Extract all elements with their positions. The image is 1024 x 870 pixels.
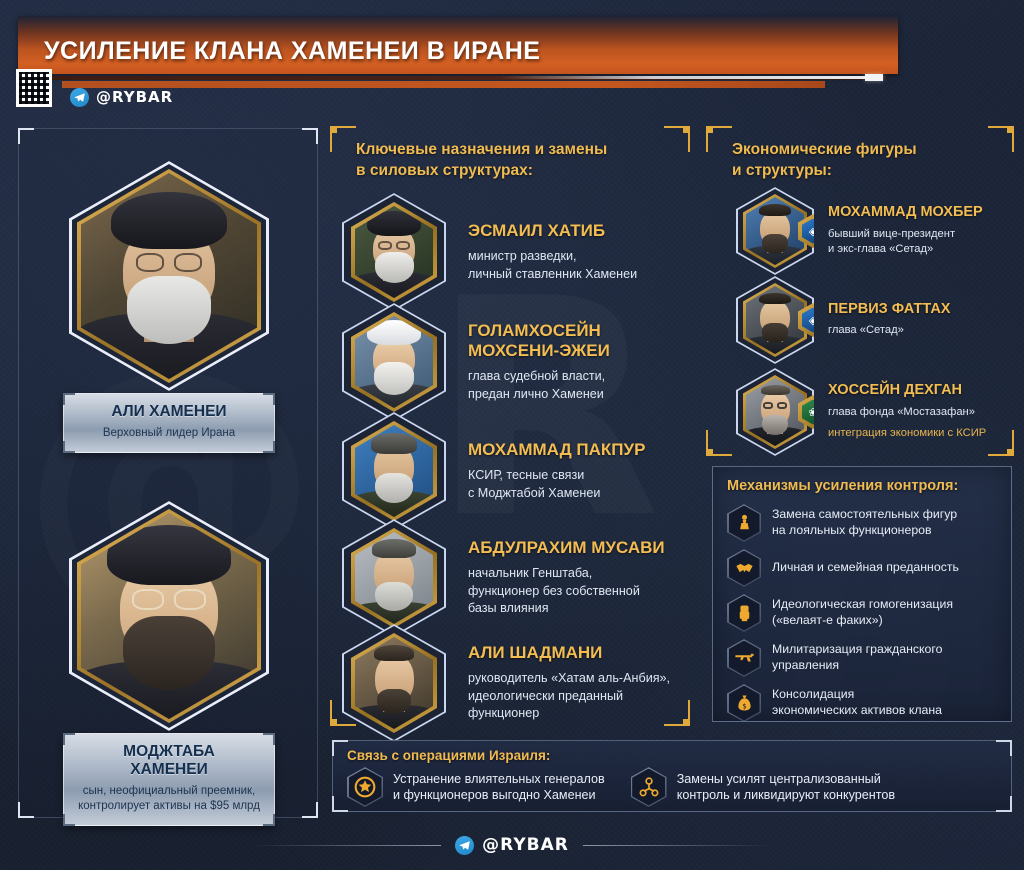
abdolrahim-mousavi-photo: [342, 519, 446, 637]
mojtaba-khamenei-photo: [69, 501, 269, 731]
security-section-title: Ключевые назначения и замены в силовых с…: [356, 140, 607, 182]
mohammad-mokhber-photo: ◈: [736, 187, 814, 275]
header-brand[interactable]: @RYBAR: [62, 84, 181, 110]
header-underline-silver: [500, 76, 880, 79]
corner-bracket: [332, 740, 348, 756]
mechanism-text: Идеологическая гомогенизация («велаят-е …: [772, 597, 953, 628]
mojtaba-khamenei-role: сын, неофициальный преемник, контролируе…: [74, 784, 264, 814]
mechanism-item: Замена самостоятельных фигур на лояльных…: [727, 504, 999, 542]
money-bag-icon: $: [727, 684, 761, 722]
person-row: АЛИ ШАДМАНИ руководитель «Хатам аль-Анби…: [342, 624, 670, 742]
person-row: ❀ ХОССЕЙН ДЕХГАН глава фонда «Мостазафан…: [736, 368, 986, 456]
mechanism-text: Милитаризация гражданского управления: [772, 642, 942, 673]
footer: @RYBAR: [0, 828, 1024, 862]
person-description: КСИР, тесные связи с Моджтабой Хаменеи: [468, 467, 645, 502]
corner-bracket: [706, 126, 732, 152]
corner-bracket: [664, 126, 690, 152]
ali-shadmani-photo: [342, 624, 446, 742]
raised-fist-icon: [727, 594, 761, 632]
person-description: глава фонда «Мостазафан»: [828, 405, 986, 420]
corner-bracket: [706, 430, 732, 456]
person-description: начальник Генштаба, функционер без собст…: [468, 565, 665, 617]
person-name: ГОЛАМХОСЕЙН МОХСЕНИ-ЭЖЕИ: [468, 321, 610, 361]
corner-bracket: [302, 128, 318, 144]
parviz-fattah-photo: ◈: [736, 276, 814, 364]
person-row: МОХАММАД ПАКПУР КСИР, тесные связи с Мод…: [342, 412, 645, 530]
mechanism-item: Милитаризация гражданского управления: [727, 639, 999, 677]
person-name: ХОССЕЙН ДЕХГАН: [828, 382, 986, 399]
mojtaba-khamenei-nameplate: МОДЖТАБА ХАМЕНЕИ сын, неофициальный прее…: [63, 733, 275, 826]
handshake-icon: [727, 549, 761, 587]
hossein-dehghan-photo: ❀: [736, 368, 814, 456]
person-name: ПЕРВИЗ ФАТТАХ: [828, 301, 950, 318]
person-name: МОХАММАД МОХБЕР: [828, 204, 983, 221]
corner-bracket: [988, 430, 1014, 456]
person-description: бывший вице-президент и экс-глава «Сетад…: [828, 227, 983, 258]
mechanism-item: Личная и семейная преданность: [727, 549, 999, 587]
corner-bracket: [988, 126, 1014, 152]
person-row: ◈ ПЕРВИЗ ФАТТАХ глава «Сетад»: [736, 276, 950, 364]
israel-operations-box: Связь с операциями Израиля: Устранение в…: [332, 740, 1012, 812]
header-underline-tip: [865, 74, 883, 81]
rifle-icon: [727, 639, 761, 677]
person-row: ◈ МОХАММАД МОХБЕР бывший вице-президент …: [736, 187, 983, 275]
person-name: МОХАММАД ПАКПУР: [468, 440, 645, 460]
corner-bracket: [332, 796, 348, 812]
mechanism-text: Личная и семейная преданность: [772, 560, 959, 576]
mechanism-item: Идеологическая гомогенизация («велаят-е …: [727, 594, 999, 632]
person-name: АБДУЛРАХИМ МУСАВИ: [468, 538, 665, 558]
israel-box-item: Замены усилят централизованный контроль …: [631, 767, 895, 807]
person-row: АБДУЛРАХИМ МУСАВИ начальник Генштаба, фу…: [342, 519, 665, 637]
ali-khamenei-photo: [69, 161, 269, 391]
control-mechanisms-box: Механизмы усиления контроля: Замена само…: [712, 466, 1012, 722]
mechanism-text: Консолидация экономических активов клана: [772, 687, 942, 718]
mechanism-text: Замена самостоятельных фигур на лояльных…: [772, 507, 957, 538]
israel-box-item: Устранение влиятельных генералов и функц…: [347, 767, 605, 807]
person-description: глава «Сетад»: [828, 323, 950, 338]
footer-brand-label: @RYBAR: [482, 835, 569, 855]
person-note: интеграция экономики с КСИР: [828, 426, 986, 441]
person-row: ЭСМАИЛ ХАТИБ министр разведки, личный ст…: [342, 193, 637, 311]
page-title: УСИЛЕНИЕ КЛАНА ХАМЕНЕИ В ИРАНЕ: [18, 37, 540, 74]
telegram-icon: [70, 88, 89, 107]
mojtaba-khamenei-name: МОДЖТАБА ХАМЕНЕИ: [74, 743, 264, 779]
chess-pawn-icon: [727, 504, 761, 542]
economic-section-title: Экономические фигуры и структуры:: [732, 140, 917, 182]
ali-khamenei-nameplate: АЛИ ХАМЕНЕИ Верховный лидер Ирана: [63, 393, 275, 453]
qr-code-icon: [16, 69, 52, 107]
mohammad-pakpour-photo: [342, 412, 446, 530]
gholamhossein-mohseni-ejei-photo: [342, 303, 446, 421]
mechanism-item: $ Консолидация экономических активов кла…: [727, 684, 999, 722]
header-brand-label: @RYBAR: [96, 88, 173, 106]
footer-rule-left: [251, 845, 441, 846]
esmail-khatib-photo: [342, 193, 446, 311]
telegram-icon: [455, 836, 474, 855]
corner-bracket: [302, 802, 318, 818]
mechanisms-title: Механизмы усиления контроля:: [727, 478, 999, 494]
footer-brand[interactable]: @RYBAR: [441, 835, 583, 855]
corner-bracket: [330, 126, 356, 152]
header-banner: УСИЛЕНИЕ КЛАНА ХАМЕНЕИ В ИРАНЕ: [18, 16, 898, 74]
corner-bracket: [18, 802, 34, 818]
network-node-icon: [631, 767, 667, 807]
corner-bracket: [18, 128, 34, 144]
person-description: руководитель «Хатам аль-Анбия», идеологи…: [468, 670, 670, 722]
ali-khamenei-role: Верховный лидер Ирана: [74, 426, 264, 441]
person-description: глава судебной власти, предан лично Хаме…: [468, 368, 610, 403]
israel-item-text: Устранение влиятельных генералов и функц…: [393, 771, 605, 804]
target-star-icon: [347, 767, 383, 807]
person-row: ГОЛАМХОСЕЙН МОХСЕНИ-ЭЖЕИ глава судебной …: [342, 303, 610, 421]
ali-khamenei-name: АЛИ ХАМЕНЕИ: [74, 403, 264, 421]
footer-rule-right: [583, 845, 773, 846]
person-description: министр разведки, личный ставленник Хаме…: [468, 248, 637, 283]
leader-panel: АЛИ ХАМЕНЕИ Верховный лидер Ирана МОДЖТА…: [18, 128, 318, 818]
person-name: АЛИ ШАДМАНИ: [468, 643, 670, 663]
israel-box-title: Связь с операциями Израиля:: [333, 741, 1011, 763]
person-name: ЭСМАИЛ ХАТИБ: [468, 221, 637, 241]
corner-bracket: [996, 796, 1012, 812]
svg-text:$: $: [742, 702, 746, 710]
infographic-canvas: @ R B УСИЛЕНИЕ КЛАНА ХАМЕНЕИ В ИРАНЕ @RY…: [0, 0, 1024, 870]
israel-item-text: Замены усилят централизованный контроль …: [677, 771, 895, 804]
corner-bracket: [996, 740, 1012, 756]
